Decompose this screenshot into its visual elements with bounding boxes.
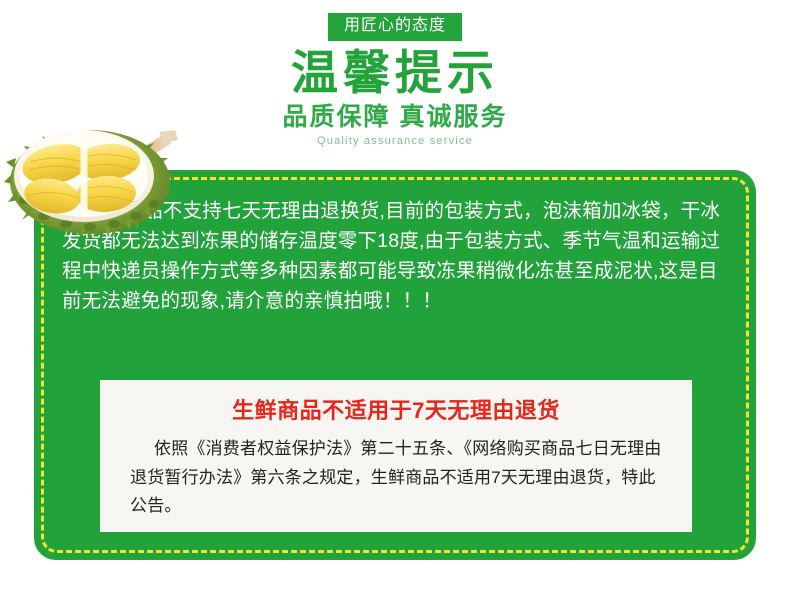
notice-body: 依照《消费者权益保护法》第二十五条、《网络购买商品七日无理由退货暂行办法》第六条… [130,435,662,521]
promo-page: 用匠心的态度 温馨提示 品质保障 真诚服务 Quality assurance … [0,0,790,590]
page-title: 温馨提示 [0,47,790,99]
durian-fruit-image [4,112,190,238]
notice-title: 生鲜商品不适用于7天无理由退货 [100,397,692,425]
notice-card: 生鲜商品不适用于7天无理由退货 依照《消费者权益保护法》第二十五条、《网络购买商… [100,380,692,532]
header-ribbon-badge: 用匠心的态度 [328,13,462,41]
